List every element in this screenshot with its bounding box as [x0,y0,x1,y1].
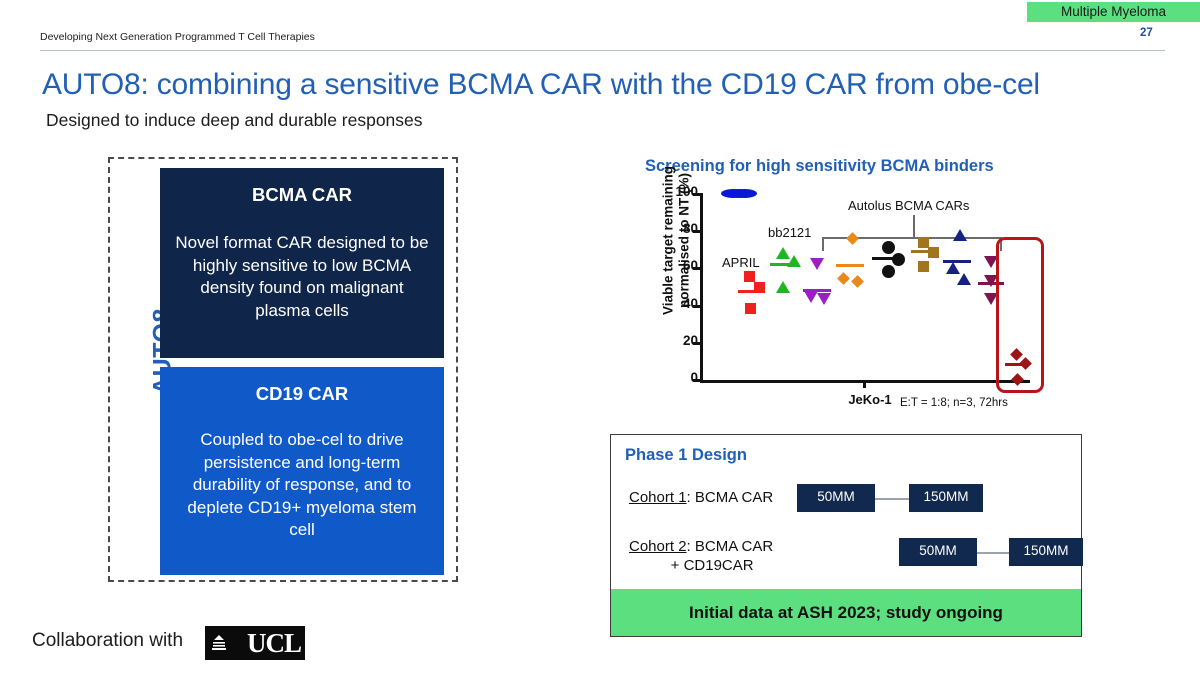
cohort-1-dose-2: 150MM [909,484,983,512]
datapoint-car7 [957,273,971,285]
mean-line-car5 [872,257,900,260]
auto8-panel: AUTO8 BCMA CAR Novel format CAR designed… [108,157,458,582]
cohort-1-desc: : BCMA CAR [687,489,774,506]
datapoint-april [745,303,756,314]
cohort-1-dose-1: 50MM [797,484,875,512]
bcma-car-title: BCMA CAR [174,184,430,206]
mean-line-car3 [803,289,831,292]
annotation-autolus: Autolus BCMA CARs [848,198,969,213]
chart-plot-area: 100 80 60 40 20 0 JeKo-1 APRIL bb2121 Au… [700,193,1030,385]
mean-line-bb2121 [770,263,798,266]
datapoint-car4 [851,275,864,288]
mean-line-april [738,290,764,293]
cd19-car-title: CD19 CAR [174,383,430,405]
page-subtitle: Designed to induce deep and durable resp… [46,110,423,131]
bcma-screening-chart: Viable target remaining normalised to NT… [615,185,1040,420]
phase1-status-banner: Initial data at ASH 2023; study ongoing [611,589,1081,636]
chart-title: Screening for high sensitivity BCMA bind… [645,157,994,176]
datapoint-april [744,271,755,282]
cohort-2-dose-2-label: 150MM [1009,538,1083,558]
mean-line-car6 [911,250,939,253]
chart-ytick-label: 0 [658,370,698,385]
cohort-1-dose-2-label: 150MM [909,484,983,504]
header-divider [40,50,1165,51]
mean-line-car4 [836,264,864,267]
chart-ytick-label: 60 [658,258,698,273]
cohort-2-desc: : BCMA CAR [687,538,774,555]
datapoint-car6 [918,261,929,272]
chart-ytick-label: 20 [658,333,698,348]
running-header: Developing Next Generation Programmed T … [40,31,315,43]
datapoint-bb2121 [776,281,790,293]
cohort-1-name: Cohort 1 [629,489,687,506]
datapoint-car4 [837,272,850,285]
chart-footnote: E:T = 1:8; n=3, 72hrs [900,397,1008,409]
bcma-car-box: BCMA CAR Novel format CAR designed to be… [160,168,444,358]
datapoint-nt-control [721,189,745,198]
datapoint-car4 [846,232,859,245]
chart-ytick-label: 80 [658,221,698,236]
ucl-logo: UCL [205,626,305,660]
datapoint-car3 [804,291,818,303]
cohort-2-dose-2: 150MM [1009,538,1083,566]
datapoint-car5 [882,265,895,278]
autolus-bracket-stem [913,215,915,237]
cohort-2-dose-1: 50MM [899,538,977,566]
ucl-crest-icon [211,634,227,652]
cohort-2-label: Cohort 2: BCMA CAR + CD19CAR [629,538,773,576]
annotation-bb2121: bb2121 [768,225,811,240]
cd19-car-box: CD19 CAR Coupled to obe-cel to drive per… [160,367,444,575]
datapoint-car5 [882,241,895,254]
ucl-logo-text: UCL [247,630,301,657]
annotation-april: APRIL [722,255,760,270]
collaboration-label: Collaboration with [32,630,183,652]
cohort-1-dose-1-label: 50MM [797,484,875,504]
chart-xtick [863,380,866,388]
datapoint-car3 [817,293,831,305]
cohort-1-label: Cohort 1: BCMA CAR [629,489,773,508]
cohort-2-name: Cohort 2 [629,538,687,555]
cohort-2-dose-1-label: 50MM [899,538,977,558]
chart-ytick-label: 40 [658,296,698,311]
page-title: AUTO8: combining a sensitive BCMA CAR wi… [42,68,1040,102]
datapoint-car3 [810,258,824,270]
cd19-car-body: Coupled to obe-cel to drive persistence … [174,429,430,542]
autolus-bracket-left-tick [822,237,824,251]
phase1-design-panel: Phase 1 Design Cohort 1: BCMA CAR 50MM 1… [610,434,1082,637]
phase1-heading: Phase 1 Design [625,446,747,465]
chart-y-axis [700,193,703,383]
chart-ytick-label: 100 [658,184,698,199]
bcma-car-body: Novel format CAR designed to be highly s… [174,232,430,322]
mean-line-car7 [943,260,971,263]
lead-binder-highlight-box [996,237,1044,393]
page-number: 27 [1140,27,1180,39]
slide-root: Multiple Myeloma 27 Developing Next Gene… [0,0,1200,675]
topic-badge: Multiple Myeloma [1027,2,1200,22]
cohort-2-desc2: + CD19CAR [629,557,773,576]
datapoint-car7 [953,229,967,241]
phase1-status-text: Initial data at ASH 2023; study ongoing [689,603,1003,623]
